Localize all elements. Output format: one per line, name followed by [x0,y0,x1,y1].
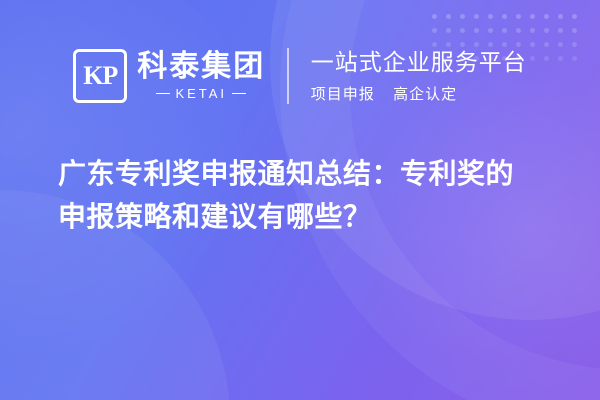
slogan-tag-1: 高企认定 [393,86,457,103]
brand-rule-left-icon [156,93,170,95]
brand-name-en: KETAI [137,86,265,101]
banner-header: KP 科泰集团 KETAI 一站式企业服务平台 项目申报 高企认定 [0,34,600,118]
slogan-sub: 项目申报 高企认定 [311,83,527,104]
brand-name-cn: 科泰集团 [137,51,265,83]
brand-logo: KP 科泰集团 KETAI [73,49,287,103]
logo-monogram-icon: KP [73,49,127,103]
brand-rule-right-icon [232,93,246,95]
logo-monogram-text: KP [83,61,117,91]
banner-title: 广东专利奖申报通知总结：专利奖的申报策略和建议有哪些？ [58,152,542,239]
brand-name-en-text: KETAI [175,86,227,101]
promo-banner: KP 科泰集团 KETAI 一站式企业服务平台 项目申报 高企认定 广东专利奖申… [0,0,600,400]
slogan-block: 一站式企业服务平台 项目申报 高企认定 [289,48,527,104]
slogan-main: 一站式企业服务平台 [311,48,527,77]
brand-name-block: 科泰集团 KETAI [137,51,265,101]
slogan-tag-0: 项目申报 [311,86,375,103]
